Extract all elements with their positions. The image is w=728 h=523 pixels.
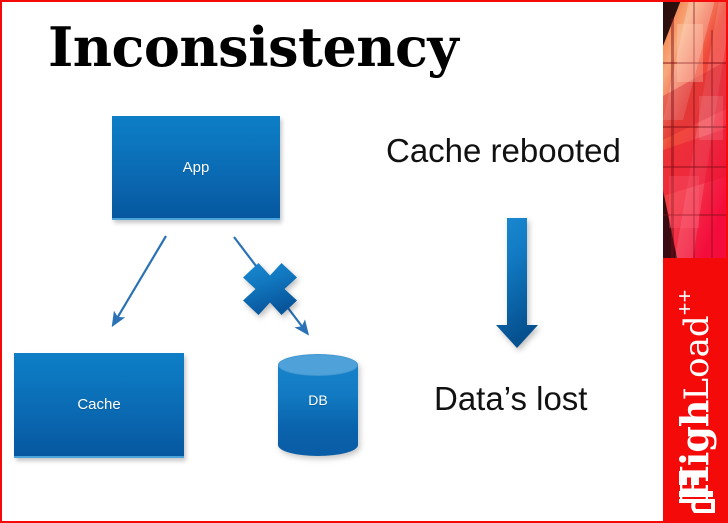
- edge-app-to-cache: [116, 236, 166, 320]
- node-app-label: App: [183, 159, 210, 176]
- x-mark-icon: [242, 262, 298, 316]
- slide-title: Inconsistency: [48, 16, 458, 78]
- node-app[interactable]: App: [112, 116, 280, 220]
- db-cylinder-top: [278, 354, 358, 376]
- sidebar-brand-panel: High Load ++: [663, 258, 728, 523]
- node-cache[interactable]: Cache: [14, 353, 184, 458]
- slide-border-top: [0, 0, 728, 2]
- node-db[interactable]: DB: [278, 354, 358, 456]
- brand-sidebar: High Load ++: [663, 0, 728, 523]
- slide-border-left: [0, 0, 2, 523]
- sidebar-art-svg: [663, 0, 728, 258]
- brand-wordmark: High Load ++: [672, 279, 720, 501]
- slide-canvas: Inconsistency App Cache DB: [0, 0, 728, 523]
- brand-load-text: Load: [677, 315, 717, 400]
- caption-datas-lost: Data’s lost: [434, 380, 587, 418]
- caption-cache-rebooted: Cache rebooted: [386, 132, 621, 170]
- down-arrow-icon: [493, 215, 541, 351]
- sidebar-abstract-artwork: [663, 0, 728, 258]
- hl-monogram-icon: [677, 469, 715, 513]
- node-cache-label: Cache: [77, 396, 120, 413]
- brand-plusplus-text: ++: [672, 290, 698, 316]
- node-db-label: DB: [278, 392, 358, 408]
